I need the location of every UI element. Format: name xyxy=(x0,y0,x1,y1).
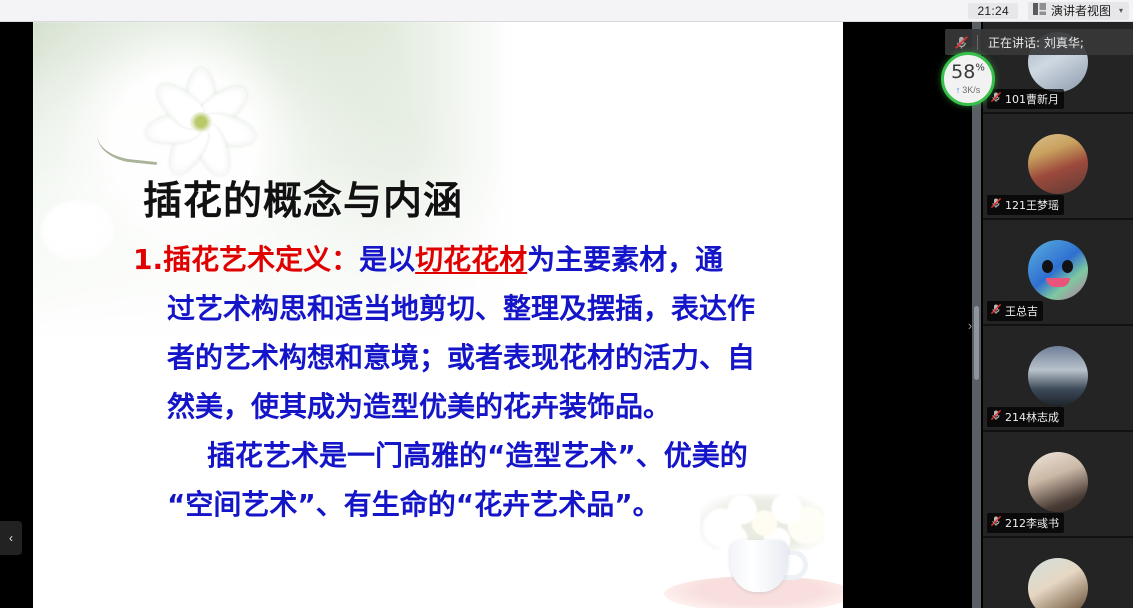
body-line-4: 然美，使其成为造型优美的花卉装饰品。 xyxy=(133,382,833,431)
scrollbar-thumb[interactable] xyxy=(974,306,979,380)
daisy-bouquet-photo xyxy=(658,490,843,608)
presenter-view-icon xyxy=(1033,3,1046,18)
top-bar: 21:24 演讲者视图 ▾ xyxy=(0,0,1133,22)
active-speaker-text: 正在讲话: 刘真华; xyxy=(978,34,1084,51)
definition-label: 1.插花艺术定义： xyxy=(133,243,359,276)
network-percent: 58% xyxy=(951,63,985,82)
presenter-view-button[interactable]: 演讲者视图 ▾ xyxy=(1028,2,1129,20)
chevron-down-icon[interactable]: ▾ xyxy=(1119,6,1123,15)
participant-rail[interactable]: 101曹新月 121王梦瑶 xyxy=(983,22,1133,608)
avatar xyxy=(1028,240,1088,300)
active-speaker-banner: 正在讲话: 刘真华; xyxy=(945,29,1133,55)
avatar xyxy=(1028,346,1088,406)
mic-muted-icon xyxy=(990,408,1002,426)
participant-name-badge: 101曹新月 xyxy=(987,89,1064,109)
participant-tile-partial[interactable]: ⌄ xyxy=(983,538,1133,608)
slide-canvas[interactable]: 插花的概念与内涵 1.插花艺术定义：是以切花花材为主要素材，通 过艺术构思和适当… xyxy=(33,22,843,608)
participant-name-badge: 王总吉 xyxy=(987,301,1043,321)
body-line-1: 1.插花艺术定义：是以切花花材为主要素材，通 xyxy=(133,235,833,284)
slide-title: 插花的概念与内涵 xyxy=(143,170,463,226)
participant-tile[interactable]: 王总吉 xyxy=(983,220,1133,324)
mic-muted-icon xyxy=(990,90,1002,108)
previous-slide-button[interactable]: ‹ xyxy=(0,521,22,555)
participant-name: 121王梦瑶 xyxy=(1005,197,1059,213)
presentation-screen: 21:24 演讲者视图 ▾ xyxy=(0,0,1133,608)
network-quality-indicator[interactable]: 58% ↑ 3K/s xyxy=(941,52,995,106)
participant-name-badge: 212李彧书 xyxy=(987,513,1064,533)
participant-name: 214林志成 xyxy=(1005,409,1059,425)
body-line-1-blue-b: 为主要素材，通 xyxy=(527,243,723,276)
avatar xyxy=(1028,452,1088,512)
participant-rail-scrollbar[interactable] xyxy=(972,22,981,608)
mic-muted-icon xyxy=(990,514,1002,532)
paragraph-2-line-1: 插花艺术是一门高雅的“造型艺术”、优美的 xyxy=(133,431,833,480)
presenter-view-label: 演讲者视图 xyxy=(1051,2,1111,19)
upload-arrow-icon: ↑ xyxy=(956,85,961,95)
network-speed: ↑ 3K/s xyxy=(956,85,981,95)
clock: 21:24 xyxy=(968,3,1018,19)
mic-muted-icon xyxy=(990,302,1002,320)
body-line-3: 者的艺术构想和意境；或者表现花材的活力、自 xyxy=(133,333,833,382)
participant-tile[interactable]: 121王梦瑶 xyxy=(983,114,1133,218)
participant-name: 101曹新月 xyxy=(1005,91,1059,107)
upload-speed-value: 3K/s xyxy=(962,85,980,95)
participant-name-badge: 121王梦瑶 xyxy=(987,195,1064,215)
mic-muted-icon xyxy=(945,35,977,50)
pitcher-body xyxy=(730,540,788,592)
body-line-1-blue-a: 是以 xyxy=(359,243,415,276)
participant-name: 王总吉 xyxy=(1005,303,1038,319)
avatar xyxy=(1028,558,1088,608)
participant-tile[interactable]: 214林志成 xyxy=(983,326,1133,430)
mic-muted-icon xyxy=(990,196,1002,214)
participant-name-badge: 214林志成 xyxy=(987,407,1064,427)
avatar xyxy=(1028,134,1088,194)
body-line-2: 过艺术构思和适当地剪切、整理及摆插，表达作 xyxy=(133,284,833,333)
participant-name: 212李彧书 xyxy=(1005,515,1059,531)
cut-flower-material-emphasis: 切花花材 xyxy=(415,243,527,276)
participant-tile[interactable]: 212李彧书 xyxy=(983,432,1133,536)
chevron-left-icon: ‹ xyxy=(9,531,13,545)
slide-body-text: 1.插花艺术定义：是以切花花材为主要素材，通 过艺术构思和适当地剪切、整理及摆插… xyxy=(133,235,833,529)
